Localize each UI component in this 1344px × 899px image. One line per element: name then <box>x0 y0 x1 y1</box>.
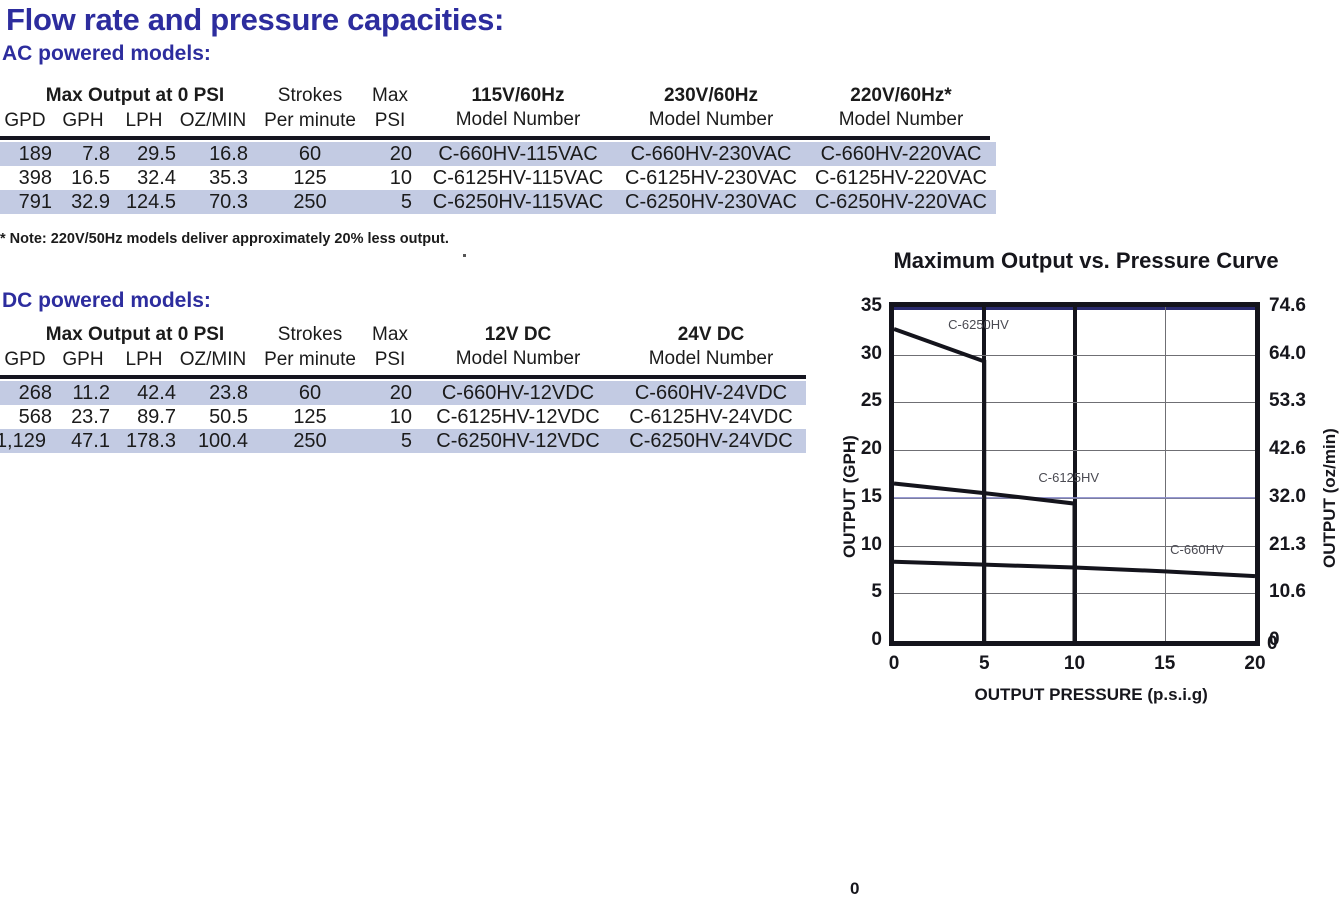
dc-header-rule <box>0 375 806 379</box>
output-pressure-chart: Maximum Output vs. Pressure Curve C-6250… <box>820 248 1344 718</box>
y-tick: 25 <box>838 390 882 412</box>
cell-gph: 11.2 <box>56 382 110 405</box>
header-115v-title: 115V/60Hz <box>420 86 616 106</box>
cell-model-24vdc: C-6250HV-24VDC <box>616 430 806 453</box>
header-ozmin: OZ/MIN <box>178 350 248 370</box>
cell-strokes: 125 <box>252 167 368 190</box>
header-strokes-line1: Strokes <box>252 86 368 106</box>
stray-mark <box>463 254 466 257</box>
cell-psi: 20 <box>368 382 412 405</box>
cell-strokes: 125 <box>252 406 368 429</box>
cell-lph: 42.4 <box>112 382 176 405</box>
header-gpd: GPD <box>0 111 52 131</box>
cell-gpd: 268 <box>0 382 52 405</box>
left-extra-zero: 0 <box>850 879 859 899</box>
cell-model-12vdc: C-6125HV-12VDC <box>420 406 616 429</box>
cell-model-12vdc: C-660HV-12VDC <box>420 382 616 405</box>
header-230v-title: 230V/60Hz <box>616 86 806 106</box>
header-115v-sub: Model Number <box>420 110 616 130</box>
cell-model-115v: C-660HV-115VAC <box>420 143 616 166</box>
cell-ozmin: 100.4 <box>178 430 248 453</box>
header-maxpsi-line1: Max <box>368 325 412 345</box>
x-tick: 0 <box>874 653 914 675</box>
header-maxpsi-line1: Max <box>368 86 412 106</box>
series-label-c-6250hv: C-6250HV <box>948 317 1009 332</box>
header-max-output-group: Max Output at 0 PSI <box>20 325 250 345</box>
ac-table-body: 189 7.8 29.5 16.8 60 20 C-660HV-115VAC C… <box>0 142 996 214</box>
header-ozmin: OZ/MIN <box>178 111 248 131</box>
header-220v-title: 220V/60Hz* <box>806 86 996 106</box>
ac-header-rule <box>0 136 990 140</box>
cell-strokes: 250 <box>252 430 368 453</box>
y2-tick: 53.3 <box>1269 390 1325 412</box>
cell-ozmin: 50.5 <box>178 406 248 429</box>
cell-gpd: 791 <box>0 191 52 214</box>
header-gph: GPH <box>56 350 110 370</box>
cell-ozmin: 70.3 <box>178 191 248 214</box>
cell-gph: 7.8 <box>56 143 110 166</box>
y2-tick: 21.3 <box>1269 534 1325 556</box>
cell-ozmin: 16.8 <box>178 143 248 166</box>
ac-table-header: Max Output at 0 PSI GPD GPH LPH OZ/MIN S… <box>0 86 996 136</box>
table-row: 398 16.5 32.4 35.3 125 10 C-6125HV-115VA… <box>0 166 996 190</box>
header-max-output-group: Max Output at 0 PSI <box>20 86 250 106</box>
header-strokes-line1: Strokes <box>252 325 368 345</box>
cell-strokes: 60 <box>252 382 368 405</box>
cell-psi: 10 <box>368 406 412 429</box>
y2-tick: 64.0 <box>1269 343 1325 365</box>
cell-gph: 32.9 <box>56 191 110 214</box>
chart-title: Maximum Output vs. Pressure Curve <box>836 248 1336 274</box>
table-row: 1,129 47.1 178.3 100.4 250 5 C-6250HV-12… <box>0 429 806 453</box>
x-axis-label: OUTPUT PRESSURE (p.s.i.g) <box>975 685 1175 705</box>
cell-lph: 29.5 <box>112 143 176 166</box>
header-12vdc-title: 12V DC <box>420 325 616 345</box>
header-24vdc-title: 24V DC <box>616 325 806 345</box>
header-230v-sub: Model Number <box>616 110 806 130</box>
cell-psi: 5 <box>368 191 412 214</box>
y-tick: 30 <box>838 343 882 365</box>
ac-models-table: Max Output at 0 PSI GPD GPH LPH OZ/MIN S… <box>0 86 996 136</box>
cell-lph: 178.3 <box>112 430 176 453</box>
cell-gpd: 568 <box>0 406 52 429</box>
header-24vdc-sub: Model Number <box>616 349 806 369</box>
cell-model-220v: C-660HV-220VAC <box>806 143 996 166</box>
cell-psi: 5 <box>368 430 412 453</box>
cell-lph: 89.7 <box>112 406 176 429</box>
cell-gph: 16.5 <box>56 167 110 190</box>
cell-model-230v: C-6250HV-230VAC <box>616 191 806 214</box>
cell-model-220v: C-6250HV-220VAC <box>806 191 996 214</box>
cell-model-230v: C-6125HV-230VAC <box>616 167 806 190</box>
header-220v-sub: Model Number <box>806 110 996 130</box>
cell-model-230v: C-660HV-230VAC <box>616 143 806 166</box>
y-tick: 5 <box>838 581 882 603</box>
cell-model-24vdc: C-660HV-24VDC <box>616 382 806 405</box>
x-tick: 5 <box>964 653 1004 675</box>
y2-tick: 32.0 <box>1269 486 1325 508</box>
y2-tick: 74.6 <box>1269 295 1325 317</box>
ac-section-title: AC powered models: <box>2 42 211 66</box>
y2-tick: 42.6 <box>1269 438 1325 460</box>
page-title: Flow rate and pressure capacities: <box>6 2 504 38</box>
cell-ozmin: 35.3 <box>178 167 248 190</box>
dc-table-body: 268 11.2 42.4 23.8 60 20 C-660HV-12VDC C… <box>0 381 806 453</box>
cell-psi: 10 <box>368 167 412 190</box>
cell-model-24vdc: C-6125HV-24VDC <box>616 406 806 429</box>
x-tick: 15 <box>1145 653 1185 675</box>
x-tick: 10 <box>1055 653 1095 675</box>
header-maxpsi-line2: PSI <box>368 350 412 370</box>
cell-model-12vdc: C-6250HV-12VDC <box>420 430 616 453</box>
y-axis-label: OUTPUT (GPH) <box>840 435 860 558</box>
dc-section-title: DC powered models: <box>2 289 211 313</box>
cell-model-115v: C-6125HV-115VAC <box>420 167 616 190</box>
cell-model-220v: C-6125HV-220VAC <box>806 167 996 190</box>
cell-gph: 47.1 <box>56 430 110 453</box>
cell-ozmin: 23.8 <box>178 382 248 405</box>
series-label-c-660hv: C-660HV <box>1170 542 1223 557</box>
y2-tick: 10.6 <box>1269 581 1325 603</box>
cell-gph: 23.7 <box>56 406 110 429</box>
table-row: 189 7.8 29.5 16.8 60 20 C-660HV-115VAC C… <box>0 142 996 166</box>
cell-strokes: 250 <box>252 191 368 214</box>
header-strokes-line2: Per minute <box>252 350 368 370</box>
cell-lph: 32.4 <box>112 167 176 190</box>
header-maxpsi-line2: PSI <box>368 111 412 131</box>
cell-psi: 20 <box>368 143 412 166</box>
cell-model-115v: C-6250HV-115VAC <box>420 191 616 214</box>
cell-gpd: 189 <box>0 143 52 166</box>
header-lph: LPH <box>112 350 176 370</box>
header-gph: GPH <box>56 111 110 131</box>
table-row: 568 23.7 89.7 50.5 125 10 C-6125HV-12VDC… <box>0 405 806 429</box>
header-gpd: GPD <box>0 350 52 370</box>
cell-gpd: 398 <box>0 167 52 190</box>
cell-strokes: 60 <box>252 143 368 166</box>
y-tick: 35 <box>838 295 882 317</box>
header-lph: LPH <box>112 111 176 131</box>
x-tick: 20 <box>1235 653 1275 675</box>
footnote: * Note: 220V/50Hz models deliver approxi… <box>0 231 449 247</box>
table-row: 268 11.2 42.4 23.8 60 20 C-660HV-12VDC C… <box>0 381 806 405</box>
cell-lph: 124.5 <box>112 191 176 214</box>
right-extra-zero: 0 <box>1267 633 1323 655</box>
header-strokes-line2: Per minute <box>252 111 368 131</box>
header-12vdc-sub: Model Number <box>420 349 616 369</box>
y-tick: 0 <box>838 629 882 651</box>
series-label-c-6125hv: C-6125HV <box>1038 470 1099 485</box>
cell-gpd: 1,129 <box>0 430 46 453</box>
table-row: 791 32.9 124.5 70.3 250 5 C-6250HV-115VA… <box>0 190 996 214</box>
y2-axis-label: OUTPUT (oz/min) <box>1320 428 1340 568</box>
datasheet-page: Flow rate and pressure capacities: AC po… <box>0 0 1344 768</box>
